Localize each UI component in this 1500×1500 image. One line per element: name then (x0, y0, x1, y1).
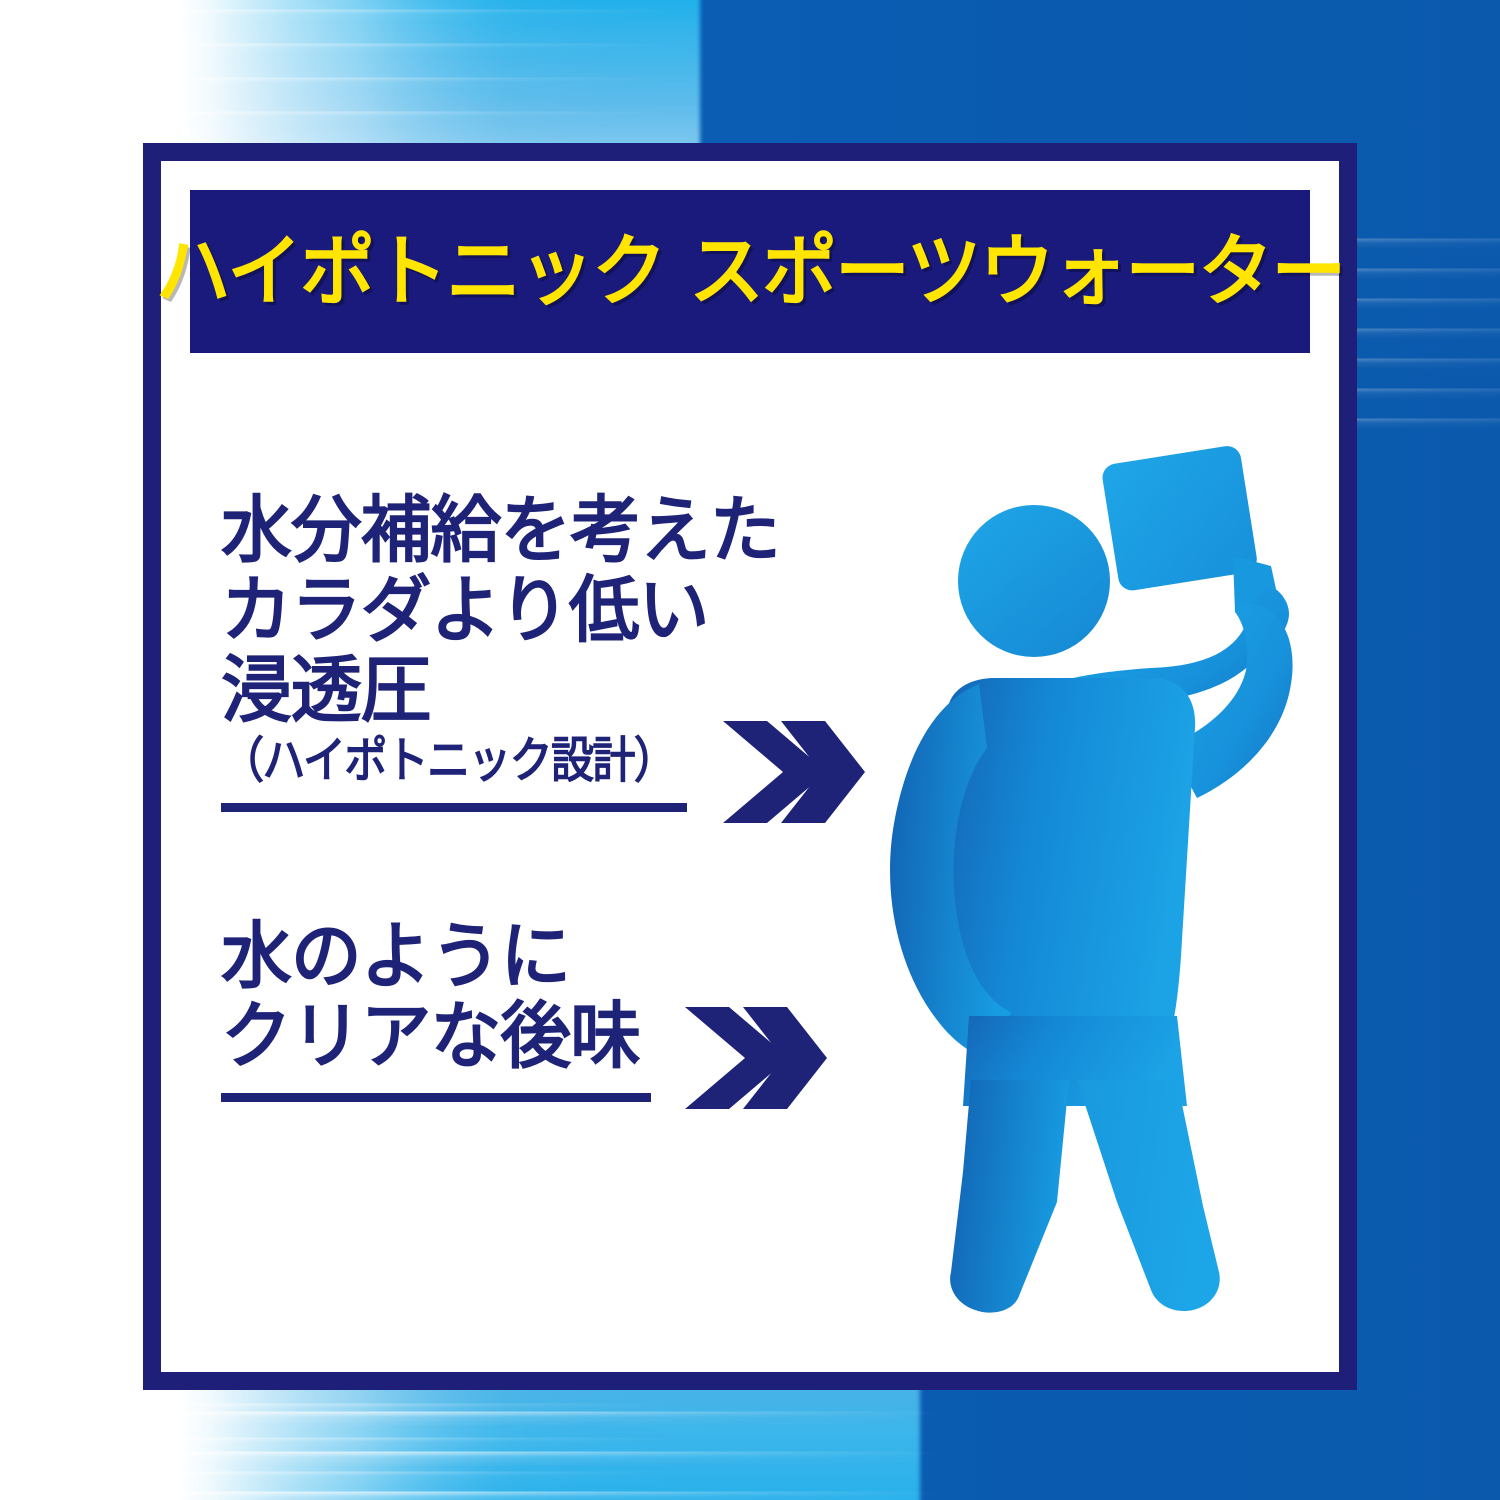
double-chevron-right-icon (719, 717, 869, 832)
feature-block-clear-aftertaste: 水のように クリアな後味 (221, 917, 901, 1103)
head-shape (958, 505, 1110, 657)
feature-list: 水分補給を考えた カラダより低い 浸透圧 （ハイポトニック設計） (221, 491, 901, 1103)
content-card: ハイポトニック スポーツウォーター 水分補給を考えた カラダより低い 浸透圧 （… (143, 143, 1357, 1390)
product-feature-panel: ハイポトニック スポーツウォーター 水分補給を考えた カラダより低い 浸透圧 （… (0, 0, 1500, 1500)
left-leg (950, 1080, 1069, 1313)
feature-line: 水分補給を考えた (221, 491, 881, 571)
feature-underline (221, 797, 841, 813)
feature-line: カラダより低い (221, 571, 881, 651)
right-leg (1077, 1080, 1220, 1311)
underline-bar (221, 803, 687, 812)
feature-line: 水のように (221, 917, 881, 997)
feature-block-hypotonic-design: 水分補給を考えた カラダより低い 浸透圧 （ハイポトニック設計） (221, 491, 901, 813)
person-drinking-pictogram (851, 416, 1311, 1316)
feature-underline (221, 1087, 841, 1103)
underline-bar (221, 1093, 651, 1102)
headline-banner: ハイポトニック スポーツウォーター (190, 190, 1310, 353)
headline-text: ハイポトニック スポーツウォーター (156, 233, 1345, 311)
